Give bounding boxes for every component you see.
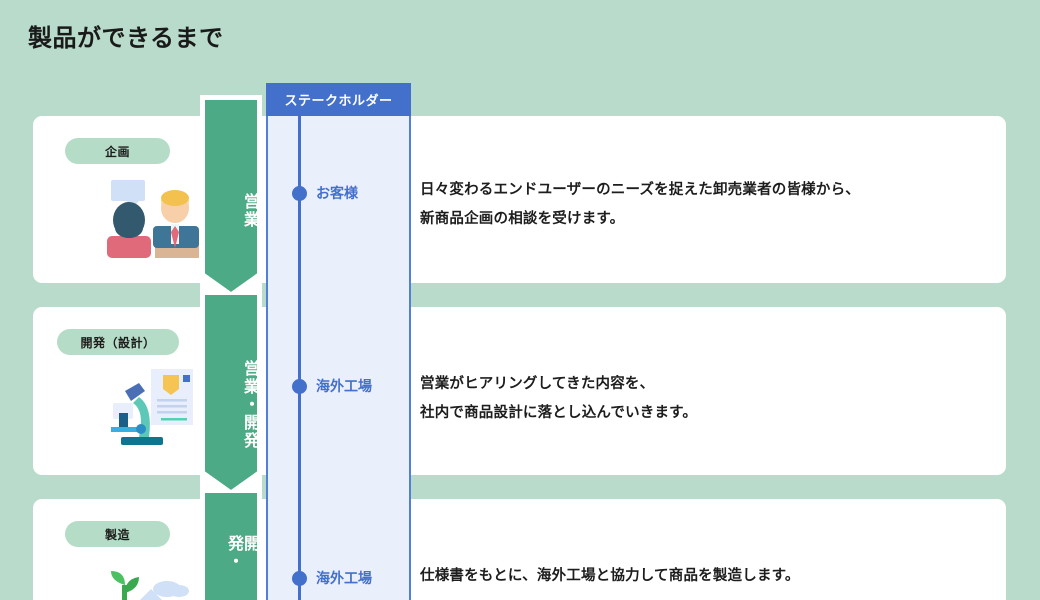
factory-plant-icon [105,559,201,600]
stakeholder-header: ステークホルダー [266,83,411,116]
factory-plant-icon [105,559,201,600]
timeline-dot-icon [292,571,307,586]
stakeholder-node: 海外工場 [292,376,372,396]
arrow-chevron-icon [200,270,262,295]
page-title: 製品ができるまで [28,25,224,54]
arrow-segment: 開発・ [200,493,262,600]
arrow-segment: 営業 [200,95,262,295]
stakeholder-node: 海外工場 [292,568,372,588]
arrow-segment-label: 営業・開発 [205,341,257,469]
arrow-chevron-icon [200,468,262,493]
arrow-segment-label: 営業 [205,146,257,276]
description-line: 社内で商品設計に落とし込んでいきます。 [420,399,697,428]
stage-pill: 企画 [65,138,170,164]
stakeholder-body: お客様海外工場海外工場 [266,116,411,600]
process-description: 仕様書をもとに、海外工場と協力して商品を製造します。 [420,562,800,591]
arrow-segment-label: 開発・ [205,535,257,572]
description-line: 新商品企画の相談を受けます。 [420,205,860,234]
stakeholder-column: ステークホルダー お客様海外工場海外工場 [266,83,411,600]
process-description: 営業がヒアリングしてきた内容を、社内で商品設計に落とし込んでいきます。 [420,370,697,428]
stakeholder-node-label: 海外工場 [316,376,372,396]
process-description: 日々変わるエンドユーザーのニーズを捉えた卸売業者の皆様から、新商品企画の相談を受… [420,176,860,234]
stakeholder-node-label: お客様 [316,183,358,203]
stage-pill: 製造 [65,521,170,547]
stakeholder-node: お客様 [292,183,358,203]
arrow-segment: 営業・開発 [200,295,262,493]
microscope-document-icon [105,367,201,449]
timeline-dot-icon [292,379,307,394]
stage-pill: 開発（設計） [57,329,179,355]
people-meeting-icon [105,176,201,258]
description-line: 仕様書をもとに、海外工場と協力して商品を製造します。 [420,562,800,591]
people-meeting-icon [105,176,201,258]
microscope-document-icon [105,367,201,449]
description-line: 営業がヒアリングしてきた内容を、 [420,370,697,399]
stakeholder-node-label: 海外工場 [316,568,372,588]
process-arrow-band: 営業営業・開発開発・ [200,95,262,600]
description-line: 日々変わるエンドユーザーのニーズを捉えた卸売業者の皆様から、 [420,176,860,205]
timeline-dot-icon [292,186,307,201]
